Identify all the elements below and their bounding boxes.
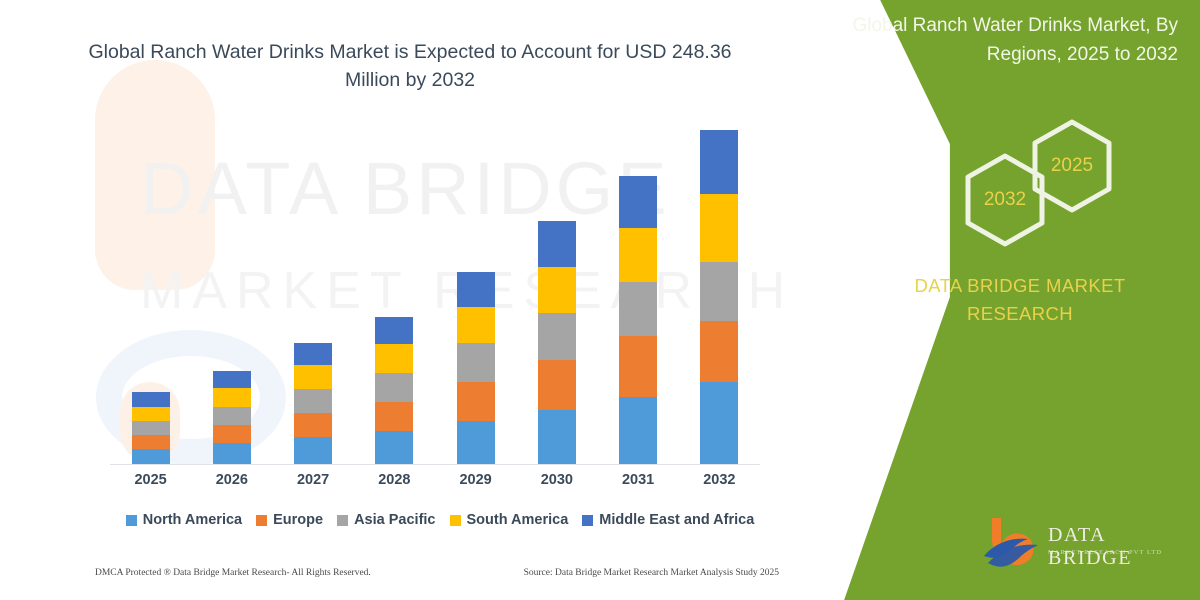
legend-swatch-icon (582, 515, 593, 526)
footer: DMCA Protected ® Data Bridge Market Rese… (95, 568, 785, 578)
bar-segment-europe (619, 336, 657, 397)
x-label-2031: 2031 (619, 472, 657, 496)
bar-segment-south-america (457, 307, 495, 343)
bar-2031 (619, 176, 657, 464)
legend-label: Middle East and Africa (599, 512, 754, 528)
legend-label: Asia Pacific (354, 512, 435, 528)
bar-segment-europe (132, 435, 170, 449)
footer-copyright: DMCA Protected ® Data Bridge Market Rese… (95, 568, 371, 578)
bar-2027 (294, 343, 332, 464)
bar-segment-europe (213, 425, 251, 443)
logo-mark-icon (982, 516, 1044, 572)
legend-swatch-icon (126, 515, 137, 526)
legend-item-middle-east-and-africa[interactable]: Middle East and Africa (582, 512, 754, 528)
legend-item-north-america[interactable]: North America (126, 512, 242, 528)
bar-segment-north-america (375, 431, 413, 464)
bar-segment-middle-east-and-africa (375, 317, 413, 344)
bar-segment-middle-east-and-africa (294, 343, 332, 366)
legend-label: South America (467, 512, 569, 528)
bar-2025 (132, 392, 170, 464)
logo-tagline: MARKET RESEARCH PVT LTD (1048, 549, 1162, 556)
bar-segment-europe (375, 402, 413, 431)
bar-segment-asia-pacific (294, 389, 332, 413)
x-label-2025: 2025 (132, 472, 170, 496)
bar-segment-middle-east-and-africa (619, 176, 657, 228)
bar-segment-south-america (294, 365, 332, 389)
x-label-2026: 2026 (213, 472, 251, 496)
x-label-2030: 2030 (538, 472, 576, 496)
x-label-2027: 2027 (294, 472, 332, 496)
bar-segment-north-america (294, 437, 332, 464)
hexagon-2025-label: 2025 (1051, 155, 1093, 177)
legend-label: Europe (273, 512, 323, 528)
page-title: Global Ranch Water Drinks Market is Expe… (60, 38, 760, 95)
bar-segment-europe (457, 382, 495, 421)
bar-segment-europe (294, 413, 332, 437)
bar-segment-south-america (213, 388, 251, 406)
hexagon-2032-label: 2032 (984, 189, 1026, 211)
bar-segment-middle-east-and-africa (700, 130, 738, 194)
legend-item-south-america[interactable]: South America (450, 512, 569, 528)
bar-segment-north-america (457, 421, 495, 464)
bar-group (110, 130, 760, 464)
panel-title: Global Ranch Water Drinks Market, By Reg… (848, 12, 1178, 69)
bar-segment-north-america (132, 449, 170, 464)
bar-segment-europe (538, 360, 576, 410)
bar-segment-asia-pacific (132, 421, 170, 435)
bar-segment-north-america (700, 382, 738, 464)
bar-segment-south-america (700, 194, 738, 262)
logo-wordmark: DATA BRIDGE (1048, 524, 1182, 570)
bar-segment-asia-pacific (700, 262, 738, 321)
legend-swatch-icon (450, 515, 461, 526)
bar-2029 (457, 272, 495, 464)
bar-segment-south-america (538, 267, 576, 314)
chart-legend: North AmericaEuropeAsia PacificSouth Ame… (100, 512, 780, 528)
legend-item-europe[interactable]: Europe (256, 512, 323, 528)
data-bridge-logo: DATA BRIDGE MARKET RESEARCH PVT LTD (982, 516, 1182, 572)
legend-item-asia-pacific[interactable]: Asia Pacific (337, 512, 435, 528)
bar-segment-south-america (375, 344, 413, 373)
x-label-2032: 2032 (700, 472, 738, 496)
bar-2030 (538, 221, 576, 464)
bar-segment-asia-pacific (375, 373, 413, 402)
legend-swatch-icon (337, 515, 348, 526)
footer-source: Source: Data Bridge Market Research Mark… (524, 568, 779, 578)
bar-segment-europe (700, 321, 738, 382)
bar-segment-asia-pacific (619, 282, 657, 336)
infographic-page: DATA BRIDGE MARKET RESEARCH Global Ranch… (0, 0, 1200, 600)
bar-segment-middle-east-and-africa (132, 392, 170, 406)
bar-segment-middle-east-and-africa (457, 272, 495, 307)
bar-segment-middle-east-and-africa (538, 221, 576, 267)
x-label-2028: 2028 (375, 472, 413, 496)
x-axis-line (110, 464, 760, 465)
bar-segment-middle-east-and-africa (213, 371, 251, 388)
bar-segment-asia-pacific (213, 407, 251, 425)
bar-segment-south-america (619, 228, 657, 282)
x-label-2029: 2029 (457, 472, 495, 496)
chart-pane: Global Ranch Water Drinks Market is Expe… (0, 0, 810, 600)
bar-segment-north-america (213, 443, 251, 464)
brand-name: DATA BRIDGE MARKET RESEARCH (875, 272, 1165, 328)
bar-chart (110, 130, 760, 465)
bar-segment-asia-pacific (457, 343, 495, 382)
hexagon-2025: 2025 (1029, 118, 1115, 214)
bar-segment-south-america (132, 407, 170, 421)
bar-segment-north-america (619, 397, 657, 464)
bar-segment-north-america (538, 410, 576, 464)
bar-2028 (375, 317, 413, 464)
bar-2032 (700, 130, 738, 464)
x-axis-labels: 20252026202720282029203020312032 (110, 472, 760, 496)
legend-swatch-icon (256, 515, 267, 526)
bar-2026 (213, 371, 251, 464)
legend-label: North America (143, 512, 242, 528)
bar-segment-asia-pacific (538, 313, 576, 360)
